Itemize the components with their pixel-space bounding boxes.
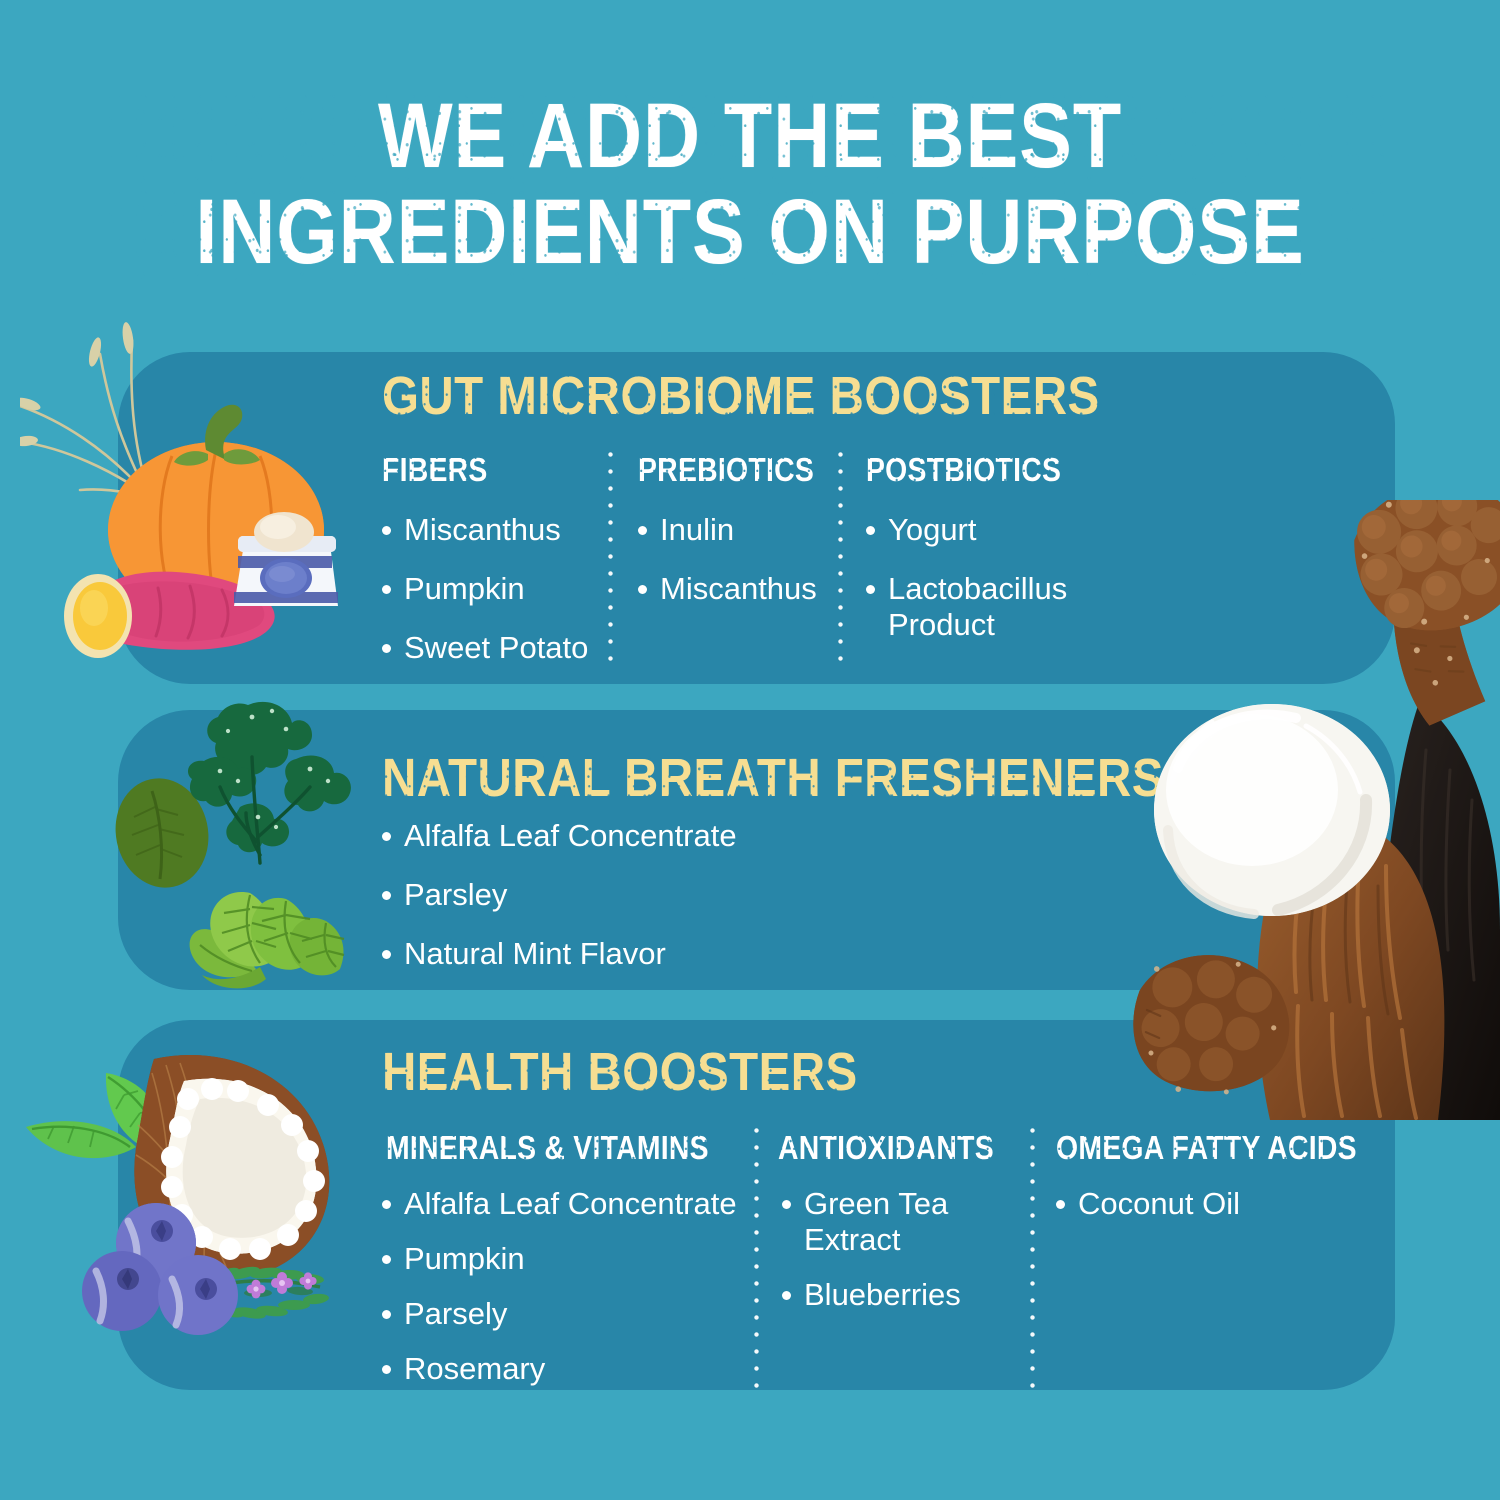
page-title-line-2: INGREDIENTS ON PURPOSE [105, 184, 1395, 280]
card-title-natural-breath-fresheners: NATURAL BREATH FRESHENERS [382, 750, 1164, 806]
list-item: Parsley [382, 877, 842, 913]
coconut-blueberry-rosemary-icon [20, 1055, 380, 1355]
subhead-prebiotics: PREBIOTICS [638, 452, 814, 488]
subhead-minerals-vitamins: MINERALS & VITAMINS [386, 1130, 709, 1166]
list-item: Blueberries [782, 1277, 972, 1313]
list-item: Rosemary [382, 1351, 742, 1387]
column-divider [838, 446, 843, 670]
column-divider [754, 1122, 759, 1392]
list-item: Coconut Oil [1056, 1186, 1306, 1222]
list-item: Sweet Potato [382, 630, 602, 666]
list-item: Parsely [382, 1296, 742, 1332]
column-divider [608, 446, 613, 670]
page-title: WE ADD THE BEST INGREDIENTS ON PURPOSE [105, 88, 1395, 280]
column-divider [1030, 1122, 1035, 1392]
list-fibers: Miscanthus Pumpkin Sweet Potato [382, 512, 602, 689]
list-omega-fatty-acids: Coconut Oil [1056, 1186, 1306, 1241]
list-antioxidants: Green Tea Extract Blueberries [782, 1186, 972, 1332]
list-prebiotics: Inulin Miscanthus [638, 512, 828, 630]
dog-paws-holding-treat-illustration [1120, 500, 1500, 1120]
list-item: Green Tea Extract [782, 1186, 972, 1258]
list-item: Alfalfa Leaf Concentrate [382, 1186, 742, 1222]
subhead-antioxidants: ANTIOXIDANTS [778, 1130, 994, 1166]
list-item: Yogurt [866, 512, 1086, 548]
list-item: Alfalfa Leaf Concentrate [382, 818, 842, 854]
card-title-gut-microbiome-boosters: GUT MICROBIOME BOOSTERS [382, 368, 1100, 424]
page-title-line-1: WE ADD THE BEST [105, 88, 1395, 184]
pumpkin-sweet-potato-yogurt-icon [20, 320, 350, 680]
infographic-canvas: WE ADD THE BEST INGREDIENTS ON PURPOSE [0, 0, 1500, 1500]
list-item: Lactobacillus Product [866, 571, 1086, 643]
list-item: Pumpkin [382, 1241, 742, 1277]
list-minerals-vitamins: Alfalfa Leaf Concentrate Pumpkin Parsely… [382, 1186, 742, 1406]
list-item: Pumpkin [382, 571, 602, 607]
list-item: Inulin [638, 512, 828, 548]
subhead-postbiotics: POSTBIOTICS [866, 452, 1061, 488]
subhead-fibers: FIBERS [382, 452, 488, 488]
herbs-mint-parsley-icon [100, 695, 400, 995]
list-breath-fresheners: Alfalfa Leaf Concentrate Parsley Natural… [382, 818, 842, 995]
card-title-health-boosters: HEALTH BOOSTERS [382, 1044, 858, 1100]
list-item: Natural Mint Flavor [382, 936, 842, 972]
subhead-omega-fatty-acids: OMEGA FATTY ACIDS [1056, 1130, 1357, 1166]
list-item: Miscanthus [638, 571, 828, 607]
list-item: Miscanthus [382, 512, 602, 548]
list-postbiotics: Yogurt Lactobacillus Product [866, 512, 1086, 666]
